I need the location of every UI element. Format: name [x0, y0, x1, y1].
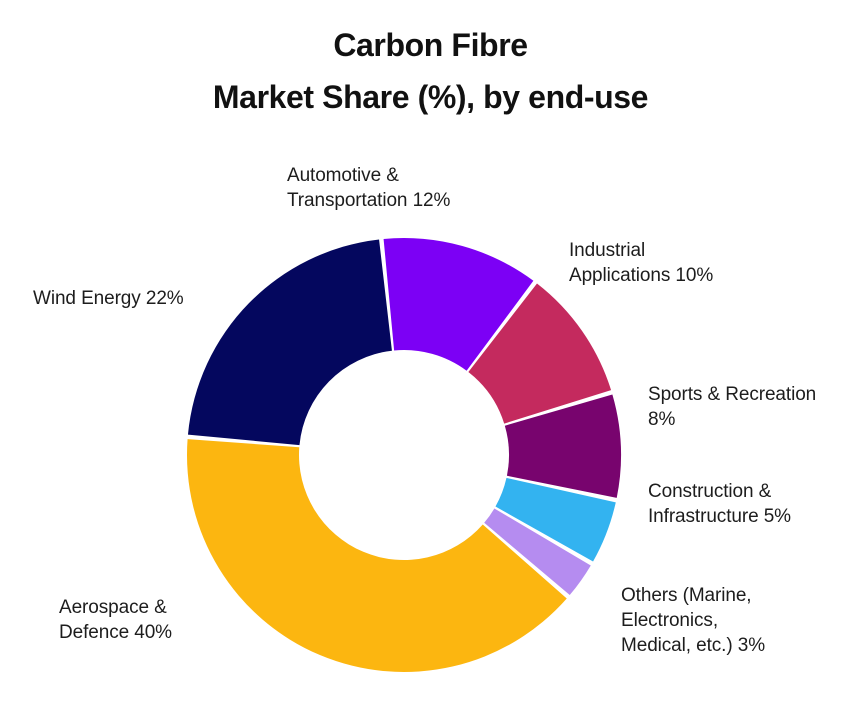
slice-label-construction-infrastructure: Construction & Infrastructure 5% — [648, 479, 791, 529]
slice-label-automotive: Automotive & Transportation 12% — [287, 163, 450, 213]
donut-slice — [384, 238, 534, 371]
donut-slice — [484, 508, 591, 595]
chart-title: Carbon Fibre Market Share (%), by end-us… — [0, 20, 861, 124]
slice-label-others: Others (Marine, Electronics, Medical, et… — [621, 583, 765, 658]
donut-slice — [188, 239, 392, 445]
chart-title-line-1: Carbon Fibre — [0, 20, 861, 72]
slice-label-aerospace-defence: Aerospace & Defence 40% — [59, 595, 172, 645]
chart-title-line-2: Market Share (%), by end-use — [0, 72, 861, 124]
slice-label-sports-recreation: Sports & Recreation 8% — [648, 382, 816, 432]
donut-slice — [505, 394, 621, 497]
slice-label-wind-energy: Wind Energy 22% — [33, 286, 184, 311]
slice-label-industrial: Industrial Applications 10% — [569, 238, 713, 288]
donut-slice — [187, 439, 567, 672]
donut-slice — [495, 478, 615, 562]
donut-slice — [468, 284, 611, 424]
